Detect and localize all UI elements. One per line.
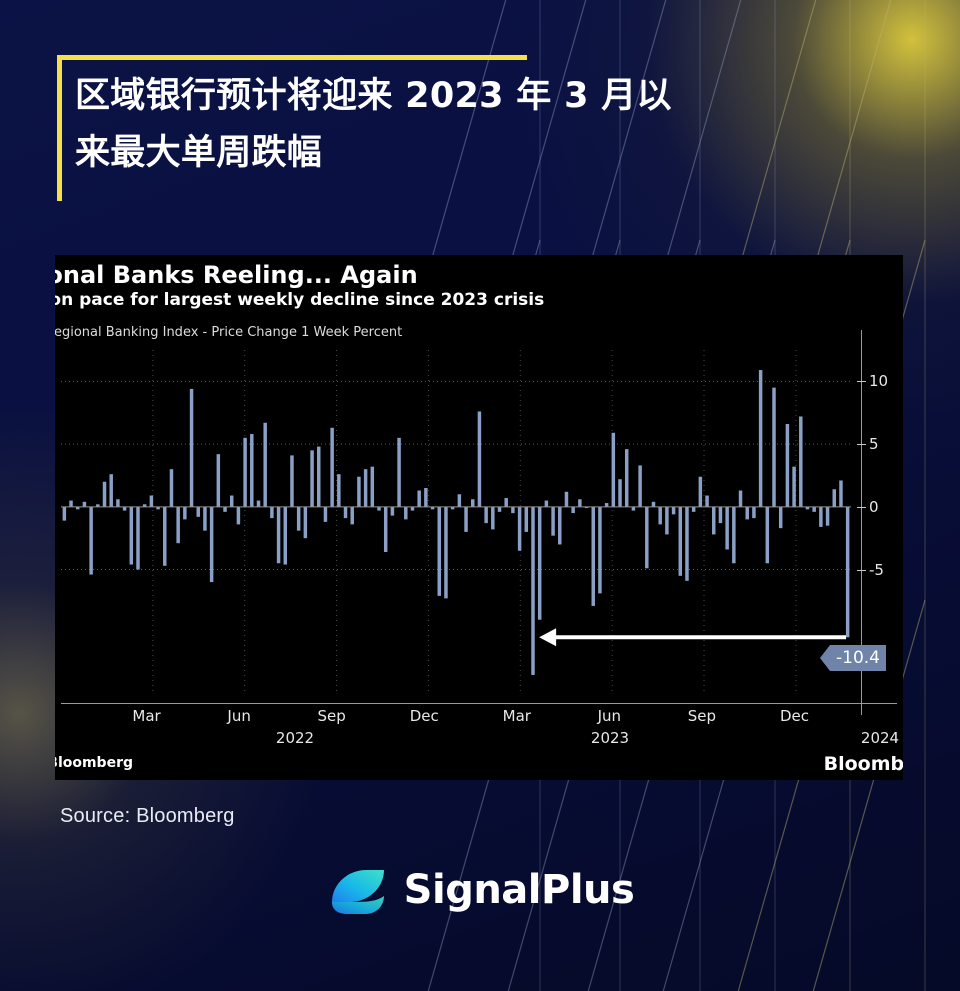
x-axis-tick: Mar: [132, 707, 160, 725]
y-axis-tick: 5: [869, 435, 879, 453]
x-axis-tick: Jun: [227, 707, 250, 725]
chart-source-label: ce: Bloomberg: [55, 755, 133, 771]
x-axis-year: 2024: [861, 729, 899, 747]
x-axis: MarJunSepDecMarJunSepDec202220232024: [55, 703, 903, 753]
x-axis-tick: Jun: [598, 707, 621, 725]
signalplus-logo: SignalPlus: [0, 862, 960, 918]
y-axis-tick: 10: [869, 372, 888, 390]
signalplus-wordmark: SignalPlus: [404, 867, 635, 913]
bloomberg-chart-panel: gional Banks Reeling... Again ex on pace…: [55, 255, 903, 780]
bloomberg-brand-label: Bloombe: [824, 753, 903, 775]
x-axis-tick: Dec: [780, 707, 809, 725]
bar-chart-plot: [61, 350, 851, 695]
x-axis-tick: Sep: [318, 707, 346, 725]
x-axis-tick: Sep: [688, 707, 716, 725]
y-axis-tick: -5: [869, 561, 884, 579]
x-axis-tick: Dec: [410, 707, 439, 725]
source-note: Source: Bloomberg: [60, 805, 235, 828]
page-title: 区域银行预计将迎来 2023 年 3 月以 来最大单周跌幅: [75, 68, 875, 181]
y-axis-tick: 0: [869, 498, 879, 516]
y-axis: 1050-5: [855, 350, 903, 695]
chart-title: gional Banks Reeling... Again: [55, 261, 418, 289]
x-axis-year: 2022: [276, 729, 314, 747]
chart-subtitle: ex on pace for largest weekly decline si…: [55, 290, 544, 310]
x-axis-year: 2023: [591, 729, 629, 747]
signalplus-mark-icon: [326, 862, 390, 918]
x-axis-tick: Mar: [503, 707, 531, 725]
price-flag-label: -10.4: [820, 645, 886, 671]
chart-series-label: / Regional Banking Index - Price Change …: [55, 325, 402, 340]
